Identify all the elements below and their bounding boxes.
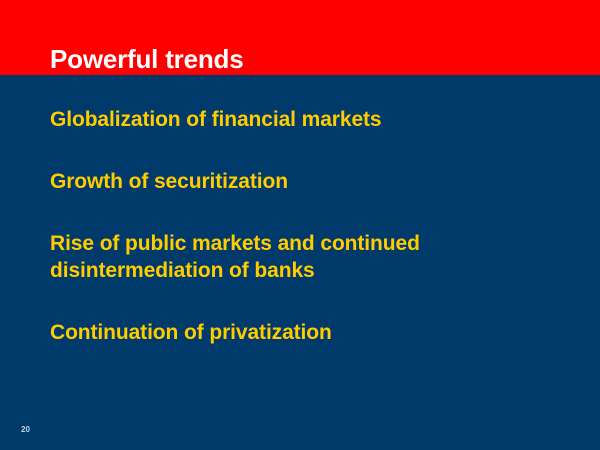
- list-item: Rise of public markets and continued dis…: [50, 230, 540, 284]
- list-item: Growth of securitization: [50, 168, 550, 195]
- page-number: 20: [21, 425, 30, 435]
- bullet-list: Globalization of financial markets Growt…: [50, 106, 550, 346]
- list-item: Globalization of financial markets: [50, 106, 550, 133]
- presentation-slide: Powerful trends Globalization of financi…: [0, 0, 600, 450]
- page-title: Powerful trends: [50, 44, 243, 74]
- list-item: Continuation of privatization: [50, 319, 550, 346]
